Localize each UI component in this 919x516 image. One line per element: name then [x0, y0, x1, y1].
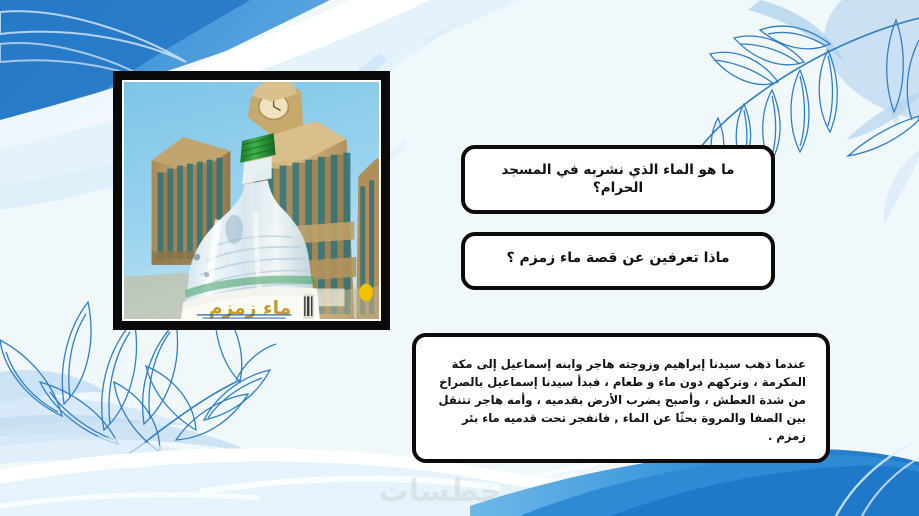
question-2-text: ماذا تعرفين عن قصة ماء زمزم ؟: [465, 236, 771, 267]
svg-text:ماء زمزم: ماء زمزم: [209, 298, 291, 319]
answer-paragraph-box[interactable]: عندما ذهب سيدنا إبراهيم وزوجته هاجر وابن…: [412, 333, 830, 463]
question-box-2[interactable]: ماذا تعرفين عن قصة ماء زمزم ؟: [461, 232, 775, 290]
photo-frame: ماء زمزم: [113, 71, 390, 330]
question-box-1[interactable]: ما هو الماء الذي نشربه في المسجد الحرام؟: [461, 145, 775, 214]
question-1-text: ما هو الماء الذي نشربه في المسجد الحرام؟: [465, 149, 771, 197]
slide-canvas: ماء زمزم ما هو الماء الذي نشربه في المسج…: [0, 0, 919, 516]
answer-paragraph-text: عندما ذهب سيدنا إبراهيم وزوجته هاجر وابن…: [416, 337, 826, 445]
right-mid-shapes: [884, 150, 919, 224]
bottom-left-foliage-group: [0, 300, 276, 516]
zamzam-photo: ماء زمزم: [122, 80, 381, 321]
watermark-text: خطسات: [355, 472, 525, 512]
